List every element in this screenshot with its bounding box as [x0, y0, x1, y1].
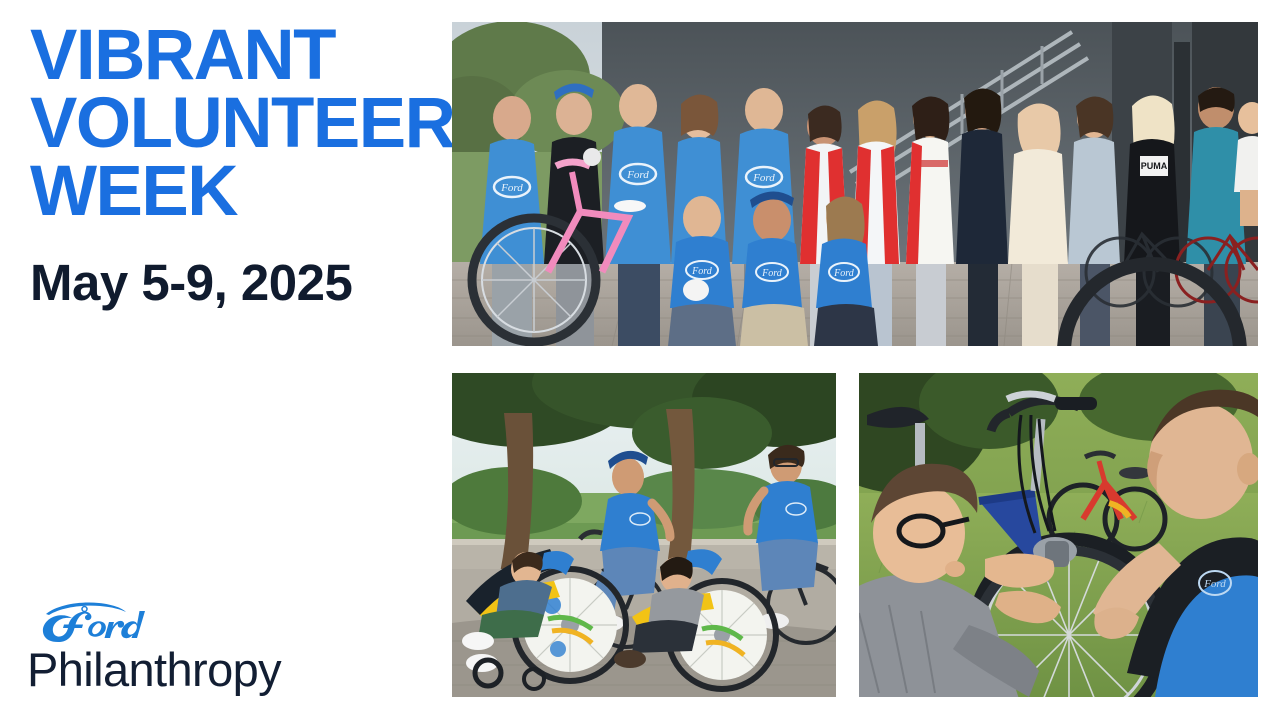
- svg-text:Ford: Ford: [761, 268, 783, 279]
- photo-adapted-bike-ride: [452, 373, 836, 697]
- ford-script-logo-icon: [33, 596, 165, 646]
- left-text-panel: VIBRANT VOLUNTEER WEEK May 5-9, 2025: [0, 0, 452, 720]
- svg-text:Ford: Ford: [1203, 578, 1226, 590]
- headline-line-1: VIBRANT: [30, 22, 440, 90]
- svg-text:PUMA: PUMA: [1141, 161, 1168, 171]
- svg-text:Ford: Ford: [833, 268, 855, 279]
- page-title: VIBRANT VOLUNTEER WEEK: [30, 22, 440, 226]
- photo-bike-repair: Ford: [859, 373, 1258, 697]
- svg-text:Ford: Ford: [752, 172, 775, 184]
- ford-philanthropy-logo: Philanthropy: [27, 596, 327, 698]
- svg-text:Ford: Ford: [691, 266, 713, 277]
- svg-text:Ford: Ford: [626, 169, 649, 181]
- event-date: May 5-9, 2025: [30, 253, 352, 312]
- headline-line-2: VOLUNTEER: [30, 90, 440, 158]
- poster-canvas: VIBRANT VOLUNTEER WEEK May 5-9, 2025: [0, 0, 1280, 720]
- headline-line-3: WEEK: [30, 158, 440, 226]
- philanthropy-wordmark: Philanthropy: [27, 642, 281, 697]
- svg-text:Ford: Ford: [500, 182, 523, 194]
- photo-volunteer-group: Ford Ford: [452, 22, 1258, 346]
